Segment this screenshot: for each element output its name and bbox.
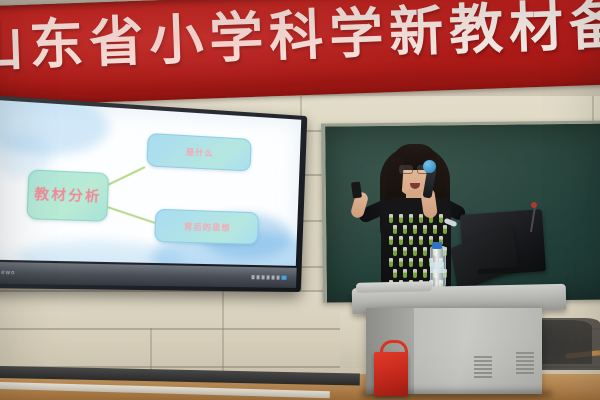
dress-motif bbox=[439, 214, 443, 223]
dress-motif bbox=[413, 225, 417, 234]
podium-lip bbox=[356, 281, 432, 293]
dress-motif bbox=[393, 247, 397, 256]
red-event-banner: 山东省小学科学新教材备课 bbox=[0, 0, 600, 106]
dress-motif bbox=[399, 236, 403, 245]
dress-motif bbox=[399, 258, 403, 267]
water-bottle-label bbox=[430, 262, 444, 273]
dress-motif bbox=[419, 236, 423, 245]
dress-motif bbox=[423, 269, 427, 278]
dress-motif bbox=[393, 225, 397, 234]
desk-microphone-head-icon bbox=[531, 202, 537, 208]
display-brand-label: seewo bbox=[0, 270, 16, 277]
dress-motif bbox=[443, 225, 447, 234]
interactive-whiteboard[interactable]: 教材分析 是什么 背后的思想 seewo bbox=[0, 95, 307, 292]
presentation-slide: 教材分析 是什么 背后的思想 bbox=[0, 100, 301, 266]
mindmap-node-main: 教材分析 bbox=[26, 169, 109, 221]
power-led-icon bbox=[281, 276, 286, 280]
dress-motif bbox=[419, 214, 423, 223]
dress-motif bbox=[423, 225, 427, 234]
connector-line bbox=[103, 205, 157, 224]
microphone-head-icon bbox=[423, 160, 436, 173]
dress-motif bbox=[389, 214, 393, 223]
dress-motif bbox=[389, 236, 393, 245]
presentation-clicker[interactable] bbox=[351, 181, 362, 198]
mindmap-node-branch-a: 是什么 bbox=[146, 133, 251, 172]
mindmap-node-branch-b: 背后的思想 bbox=[154, 209, 259, 245]
dress-motif bbox=[419, 258, 423, 267]
eye bbox=[403, 168, 407, 170]
dress-motif bbox=[393, 269, 397, 278]
dress-motif bbox=[409, 258, 413, 267]
water-bottle-cap bbox=[432, 242, 442, 249]
dress-motif bbox=[403, 269, 407, 278]
connector-line bbox=[104, 166, 146, 187]
dress-motif bbox=[409, 236, 413, 245]
dress-motif bbox=[389, 258, 393, 267]
podium-vent bbox=[474, 356, 492, 378]
banner-title: 山东省小学科学新教材备课 bbox=[0, 0, 600, 83]
dress-motif bbox=[413, 269, 417, 278]
podium-vent bbox=[516, 352, 534, 374]
dress-motif bbox=[413, 247, 417, 256]
dress-motif bbox=[423, 247, 427, 256]
display-buttons[interactable] bbox=[251, 275, 286, 280]
lecture-hall-photo: 山东省小学科学新教材备课 教材分析 是什么 背后的思想 seewo bbox=[0, 0, 600, 400]
red-handbag[interactable] bbox=[374, 352, 408, 396]
dress-motif bbox=[433, 225, 437, 234]
dress-motif bbox=[399, 214, 403, 223]
dress-motif bbox=[409, 214, 413, 223]
dress-motif bbox=[403, 225, 407, 234]
dress-motif bbox=[403, 247, 407, 256]
